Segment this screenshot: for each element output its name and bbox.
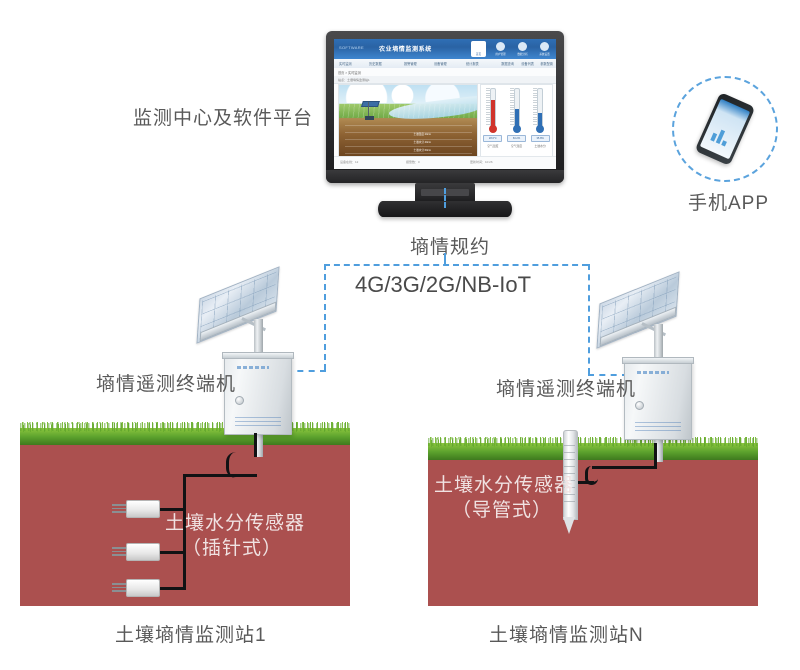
mobile-app-badge [672,76,778,182]
gauge-panel: 28.6℃ 空气温度 [480,84,553,157]
station-right-label: 土壤墒情监测站N [489,620,644,647]
chart-icon-label: 数据分析 [517,52,527,56]
menu-item-1[interactable]: 历史数据 [369,61,382,66]
monitor-bezel: SOFTWARE 农业墒情监测系统 首页 用户管理 [326,31,564,183]
illustration-solar-panel-icon [362,101,381,107]
humidity-value: 63.2% [507,135,526,142]
field-illustration: 土壤温度 20cm 土壤水分 40cm 土壤水分 60cm [338,84,478,157]
gauge-tube [490,88,496,128]
sensor-left-label-line2: （插针式） [182,533,282,560]
pic-note-2: 土壤水分 60cm [414,148,431,152]
footer-online-count: 设备在线：12 [340,160,358,164]
user-icon-label: 用户管理 [495,52,505,56]
gauge-tube [514,88,520,128]
menu-item-4[interactable]: 统计报表 [466,61,479,66]
protocol-link-top [444,188,446,208]
soil-moisture-caption: 土壤水分 [535,144,546,148]
cable-left-horizontal [224,474,257,477]
gauge-fill [491,100,495,127]
pin-soil-moisture-sensor-icon [112,579,158,595]
home-icon-label: 首页 [476,52,481,56]
sensor-body [126,543,160,561]
temperature-value: 28.6℃ [483,135,502,142]
cabinet-brand-mark [237,366,269,369]
footer-update-time: 更新时间：10:26 [470,160,493,164]
network-right-drop [588,264,590,374]
pic-note-0: 土壤温度 20cm [414,132,431,136]
soil-moisture-gauge: 35.8% 土壤水分 [530,88,551,156]
diagram-canvas: SOFTWARE 农业墒情监测系统 首页 用户管理 [0,0,800,670]
gear-glyph [540,42,549,51]
screen-logo: SOFTWARE [339,45,364,50]
protocol-link-bottom [444,253,446,264]
station-subbar: 站点：土壤墒情监测站1 [334,76,556,84]
gear-icon-label: 系统设置 [539,52,549,56]
protocol-label: 墒情规约 [410,232,490,259]
soil-moisture-icon [530,88,551,130]
gauge-bulb [489,125,497,133]
cabinet-roof [222,352,294,359]
home-glyph [474,42,483,51]
network-label: 4G/3G/2G/NB-IoT [355,272,531,298]
monitor-screen[interactable]: SOFTWARE 农业墒情监测系统 首页 用户管理 [334,39,556,169]
screen-header-bar: SOFTWARE 农业墒情监测系统 首页 用户管理 [334,39,556,59]
thermometer-icon [482,88,503,130]
gauge-tube [537,88,543,128]
humidity-gauge: 63.2% 空气湿度 [506,88,527,156]
cabinet-lock-icon [235,396,244,405]
illustration-cabinet-icon [365,116,373,120]
station-left-label: 土壤墒情监测站1 [115,620,267,647]
menu-item-0[interactable]: 实时监测 [339,61,352,66]
mobile-app-label: 手机APP [688,188,769,215]
breadcrumb-text: 首页 > 实时监测 [338,70,361,75]
home-icon[interactable]: 首页 [471,41,486,57]
cabinet-label-plate [235,414,281,426]
chart-glyph [518,42,527,51]
gauge-bulb [536,125,544,133]
menu-right-1[interactable]: 设备列表 [521,61,534,66]
gear-icon[interactable]: 系统设置 [537,41,552,57]
station-left [196,277,326,457]
humidity-icon [506,88,527,130]
terminal-label-left: 墒情遥测终端机 [96,369,236,396]
software-platform-screen: SOFTWARE 农业墒情监测系统 首页 用户管理 [334,39,556,169]
sensor-left-label-line1: 土壤水分传感器 [165,508,305,535]
cable-right-vertical [654,443,657,467]
soil-moisture-value: 35.8% [531,135,550,142]
user-glyph [496,42,505,51]
menu-item-3[interactable]: 设备管理 [434,61,447,66]
sensor-right-label-line1: 土壤水分传感器 [434,470,574,497]
user-icon[interactable]: 用户管理 [493,41,508,57]
cable-right-horizontal [592,466,657,469]
sensor-body [126,579,160,597]
cabinet-brand-mark [637,371,669,374]
cable-right-bend [585,466,598,485]
chart-icon[interactable]: 数据分析 [515,41,530,57]
crop-rows [339,104,477,118]
screen-body: 土壤温度 20cm 土壤水分 40cm 土壤水分 60cm [338,84,553,157]
tube-tip [563,517,575,534]
cabinet-roof [622,357,694,364]
phone-chart-bars [710,127,730,146]
temperature-gauge: 28.6℃ 空气温度 [482,88,503,156]
menu-right-0[interactable]: 数据查询 [501,61,514,66]
screen-nav-icons: 首页 用户管理 数据分析 [471,41,552,57]
monitor: SOFTWARE 农业墒情监测系统 首页 用户管理 [326,31,564,183]
sensor-right-label-line2: （导管式） [452,495,552,522]
menu-right-2[interactable]: 参数配置 [540,61,553,66]
cabinet-lock-icon [635,401,644,410]
cable-branch-3 [157,587,185,590]
pin-soil-moisture-sensor-icon [112,543,158,559]
cable-left-horizontal-2 [183,474,227,477]
network-bus-line [324,264,588,266]
temperature-caption: 空气温度 [487,144,498,148]
terminal-label-right: 墒情遥测终端机 [496,374,636,401]
sensor-body [126,500,160,518]
gauge-bulb [513,125,521,133]
screen-footer: 设备在线：12 报警数：0 更新时间：10:26 [334,156,556,169]
station-right [596,282,726,462]
monitoring-center-label: 监测中心及软件平台 [133,103,313,130]
humidity-caption: 空气湿度 [511,144,522,148]
screen-title: 农业墒情监测系统 [379,44,432,53]
pin-soil-moisture-sensor-icon [112,500,158,516]
menu-item-2[interactable]: 报警管理 [404,61,417,66]
cable-branch-2 [157,551,185,554]
cabinet-label-plate [635,419,681,431]
soil-layers [345,122,472,154]
footer-alarm-count: 报警数：0 [406,160,420,164]
station-subbar-text: 站点：土壤墒情监测站1 [338,78,370,82]
monitor-chin [326,170,564,183]
pic-note-1: 土壤水分 40cm [414,140,431,144]
